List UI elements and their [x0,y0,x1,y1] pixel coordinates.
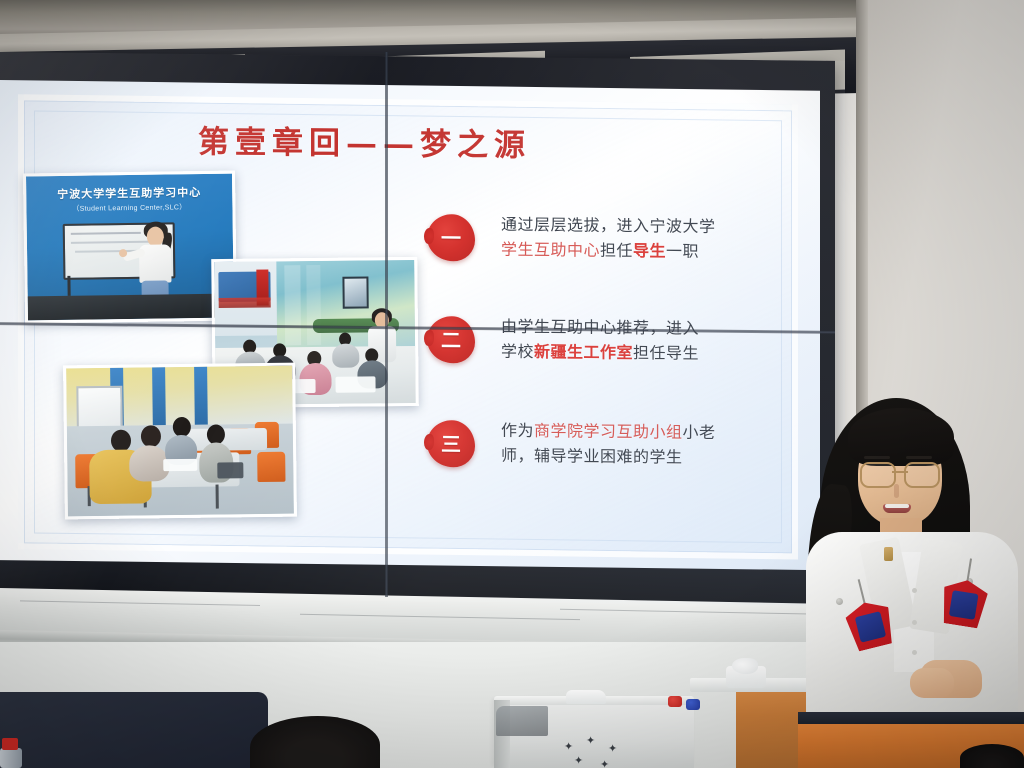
tutor-hand [119,249,127,257]
poster-skyline-graphic [219,297,271,308]
plain-text: 作为 [501,421,534,440]
marble-vein [560,609,810,615]
jacket-snap [836,598,843,605]
jacket-gold-trim [884,547,893,561]
whiteboard-writing [71,241,155,244]
glasses-lens-right [904,462,940,488]
highlight-text: 新疆生工作室 [534,342,633,362]
blue-cap-object [686,699,700,710]
seal-number: 三 [427,420,475,468]
plain-text: 担任 [600,241,633,260]
presenter-eyebrow [906,456,932,459]
banner-text-block: 宁波大学学生互助学习中心 （Student Learning Center,SL… [32,184,226,215]
highlight-text: 导生 [633,241,666,260]
seal-number: 一 [427,214,475,262]
monitor-rear [0,692,268,768]
shirt-button [912,588,917,593]
presenter-eyebrow [864,456,890,459]
student-head [111,430,131,452]
wall-stripe [194,367,208,425]
shirt-button [912,650,917,655]
highlight-text: 学生互助中心 [501,240,600,260]
decor-star-icon: ✦ [586,736,595,747]
paper-sheet [163,459,197,471]
bullet-text-3: 作为商学院学习互助小组小老 师，辅导学业困难的学生 [501,419,801,472]
bottle-cap [2,738,18,750]
decor-star-icon: ✦ [608,744,617,755]
bullet-line-2: 师，辅导学业困难的学生 [501,444,801,472]
video-wall-seam-vertical [385,52,388,597]
plain-text: 担任导生 [633,343,699,363]
red-cap-object [668,696,682,707]
glasses-lens-left [860,462,896,488]
bullet-text-1: 通过层层选拔，进入宁波大学 学生互助中心担任导生一职 [501,213,801,266]
bullet-line-2: 学生互助中心担任导生一职 [501,238,801,266]
decor-star-icon: ✦ [600,760,609,768]
paper-sheet [335,376,375,392]
slide-title: 第壹章回——梦之源 [198,116,531,164]
flag-badge-right [939,577,990,629]
framed-picture [342,276,368,308]
student-body [332,344,359,368]
shirt-button [912,620,917,625]
bullet-text-2: 由学生互助中心推荐，进入 学校新疆生工作室担任导生 [501,315,801,368]
water-bottle [0,748,22,768]
plain-text: 小老 [683,423,716,442]
seal-badge-1: 一 [427,214,475,262]
notebook [217,462,243,478]
flag-emblem [949,590,979,620]
plain-text: 学校 [501,342,534,361]
presenter-hand [910,668,954,698]
wall-stripe [152,367,166,425]
seal-badge-2: 二 [427,316,475,364]
decor-star-icon: ✦ [574,756,583,767]
presenter-teeth [885,504,909,508]
tissue-left [566,690,606,704]
highlight-text: 商学院学习互助小组 [534,421,683,442]
bullet-line-1: 作为商学院学习互助小组小老 [501,419,801,447]
lectern-shelf [496,706,548,736]
marble-vein [20,600,260,606]
decor-star-icon: ✦ [564,742,573,753]
photo-small-group-tutoring [63,363,297,520]
presenter-nose [894,484,899,498]
wall-panel [306,265,321,345]
screenshot-canvas: 第壹章回——梦之源 宁波大学学生互助学习中心 （Student Learning… [0,0,1024,768]
presenter-glasses [860,462,940,484]
tissue-puff [732,658,758,674]
seal-badge-3: 三 [427,420,475,468]
classroom-chair [257,452,285,482]
marble-vein [300,614,580,620]
bullet-line-1: 通过层层选拔，进入宁波大学 [501,213,801,241]
bullet-line-2: 学校新疆生工作室担任导生 [501,340,801,368]
banner-title-cn: 宁波大学学生互助学习中心 [32,184,226,203]
photo-learning-center-banner: 宁波大学学生互助学习中心 （Student Learning Center,SL… [23,171,237,324]
glasses-bridge [892,471,908,473]
podium-top-edge [798,712,1024,724]
plain-text: 一职 [666,241,699,260]
whiteboard-writing [71,232,141,235]
audience-member-head [960,744,1024,768]
table-leg [216,485,219,509]
seal-number: 二 [427,316,475,364]
photo-floor [28,294,234,321]
wall-panel [284,265,301,345]
student-head [141,425,161,447]
